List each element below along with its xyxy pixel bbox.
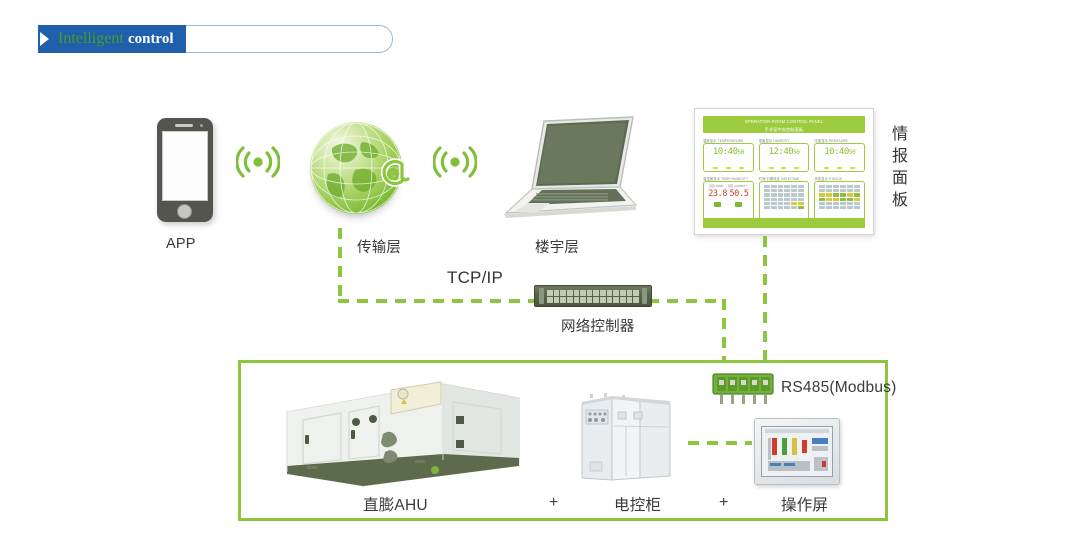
secondary-field-caption: 湿度 HUMIDITY: [728, 184, 748, 188]
control-panel-header-en: OPERATION ROOM CONTROL PANEL: [703, 118, 865, 126]
wifi-signal-icon: [433, 142, 477, 182]
secondary-field-captions: 温度 TEMP 湿度 HUMIDITY: [707, 184, 750, 188]
readout-indicators: [760, 167, 809, 170]
label-tcpip: TCP/IP: [447, 268, 503, 288]
readout-cell: 湿度显示 HUMIDITY 12:4050: [759, 138, 810, 172]
hmi-titlebar: [765, 429, 829, 433]
secondary-readout-cell: 温湿度显示 TEMP/HUMIDITY 温度 TEMP 湿度 HUMIDITY …: [703, 176, 754, 221]
label-cabinet: 电控柜: [614, 493, 661, 515]
laptop-icon: [492, 115, 637, 223]
link-transport-down: [338, 228, 342, 302]
banner-title: Intelligent control: [58, 27, 174, 51]
readout-value: 10:4050: [707, 146, 750, 159]
secondary-indicators: [707, 202, 750, 207]
label-transport-layer: 传输层: [357, 236, 401, 257]
hmi-element: [782, 438, 787, 455]
patch-panel-icon: [534, 285, 652, 307]
phone-camera: [200, 124, 203, 127]
hmi-element: [784, 463, 795, 466]
hmi-screen-icon: [754, 418, 840, 485]
terminal-block-icon: [712, 372, 774, 406]
control-panel-header-zh: 手术室中央控制面板: [703, 126, 865, 134]
hmi-element: [770, 463, 781, 466]
phone-speaker: [175, 124, 193, 127]
control-panel-header: OPERATION ROOM CONTROL PANEL 手术室中央控制面板: [703, 116, 865, 133]
panel-mount-ear: [642, 288, 647, 304]
hmi-element: [812, 446, 828, 451]
link-riser-to-box: [722, 299, 726, 364]
readout-display: 12:4050: [759, 143, 810, 172]
electrical-cabinet-icon: [578, 390, 673, 484]
phone-screen: [162, 131, 208, 201]
wifi-signal-icon: [236, 142, 280, 182]
link-controller-to-riser: [648, 299, 726, 303]
label-ahu: 直膨AHU: [363, 493, 428, 515]
readout-display: 10:4050: [703, 143, 754, 172]
secondary-field-value: 50.5: [730, 189, 749, 199]
hmi-element: [822, 461, 826, 467]
readout-indicators: [815, 167, 864, 170]
label-building-layer: 楼宇层: [535, 236, 579, 257]
label-network-controller: 网络控制器: [561, 315, 635, 336]
operator-plus: +: [719, 494, 728, 512]
readout-value: 12:4050: [763, 146, 806, 159]
secondary-display: 温度 TEMP 湿度 HUMIDITY 23.8 50.5: [703, 181, 754, 221]
ahu-unit-icon: [283, 378, 523, 490]
hmi-element: [802, 440, 807, 453]
label-app: APP: [166, 236, 196, 252]
readout-indicators: [704, 167, 753, 170]
label-rs485: RS485(Modbus): [781, 379, 896, 397]
control-panel-readouts: 温度显示 TEMPERATURE 10:4050 湿度显示 HUMIDITY 1…: [703, 138, 865, 221]
hmi-element: [792, 438, 797, 455]
hmi-element: [812, 438, 828, 444]
hmi-element: [772, 438, 777, 455]
secondary-field-caption: 温度 TEMP: [709, 184, 723, 188]
status-cell: 状态显示 STATUS: [814, 176, 865, 221]
keypad-grid: [763, 184, 806, 210]
control-panel-footer-bar: [703, 218, 865, 228]
readout-cell: 压差显示 PRESSURE 10:4050: [814, 138, 865, 172]
link-transport-to-controller: [338, 299, 538, 303]
link-infopanel-down: [763, 236, 767, 364]
secondary-field-values: 23.8 50.5: [707, 188, 750, 199]
panel-ports: [547, 290, 639, 303]
label-info-panel-vertical: 情报面板: [890, 124, 910, 212]
smartphone-icon: [157, 118, 213, 222]
status-display: [814, 181, 865, 221]
link-cabinet-to-hmi: [688, 441, 752, 445]
hmi-element: [768, 438, 771, 460]
panel-mount-ear: [539, 288, 544, 304]
readout-display: 10:4050: [814, 143, 865, 172]
banner-title-primary: Intelligent: [58, 30, 124, 47]
secondary-field-value: 23.8: [708, 189, 727, 199]
diagram-canvas: Intelligent control APP: [0, 0, 1068, 538]
banner-title-secondary: control: [128, 31, 174, 47]
operator-plus: +: [549, 494, 558, 512]
label-hmi: 操作屏: [781, 493, 828, 515]
keypad-display: [759, 181, 810, 221]
readout-value: 10:4050: [818, 146, 861, 159]
status-grid: [818, 184, 861, 210]
keypad-cell: 时间/日期设定 DATE/TIME SETTING: [759, 176, 810, 221]
readout-cell: 温度显示 TEMPERATURE 10:4050: [703, 138, 754, 172]
hmi-display: [761, 426, 833, 477]
phone-home-button: [177, 204, 192, 219]
at-symbol-icon: [372, 152, 414, 194]
control-panel-icon: OPERATION ROOM CONTROL PANEL 手术室中央控制面板 温…: [694, 108, 874, 235]
